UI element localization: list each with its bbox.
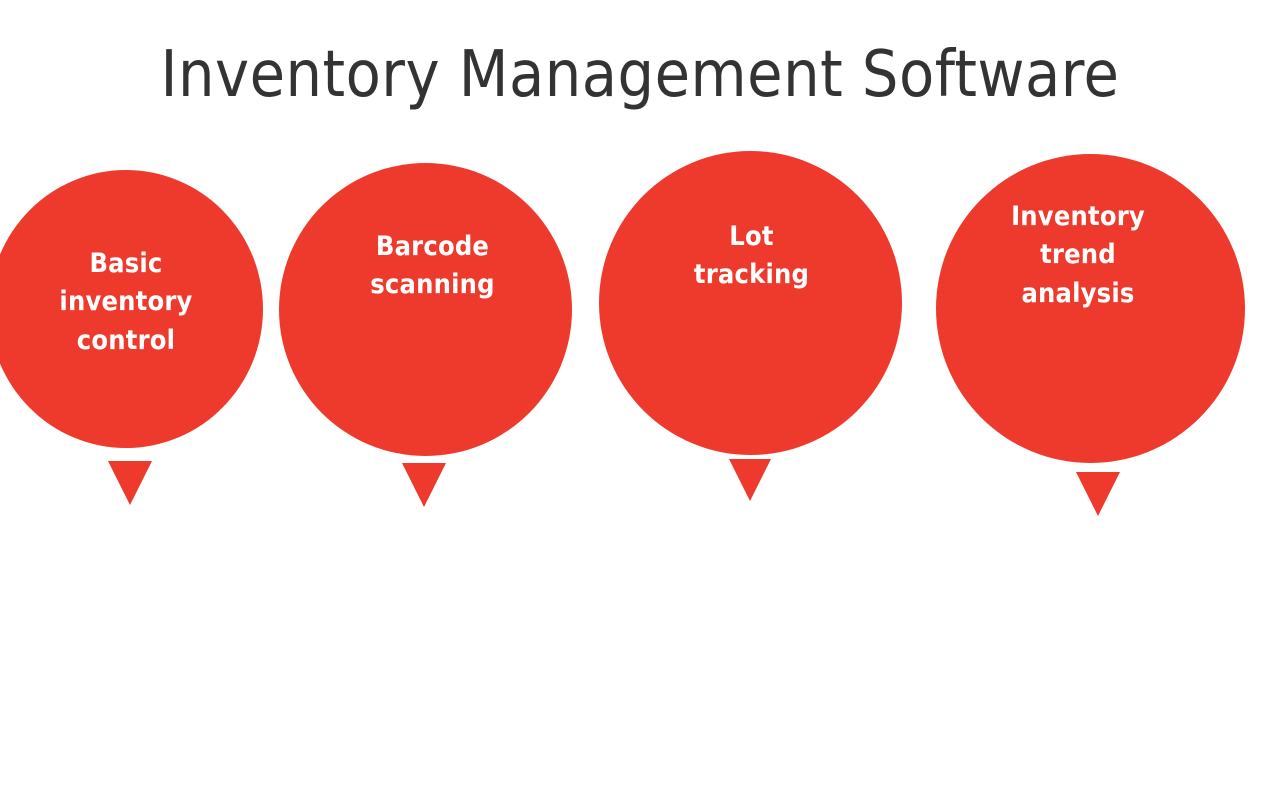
node-circle[interactable]: Basic inventory control: [0, 170, 263, 448]
node-label: Basic inventory control: [26, 245, 226, 360]
node-circle[interactable]: Lot tracking: [599, 151, 902, 455]
node-label: Lot tracking: [644, 218, 859, 295]
node-pointer-triangle-icon: [402, 463, 446, 507]
node-label: Barcode scanning: [325, 228, 540, 305]
diagram-canvas: Inventory Management Software Basic inve…: [0, 0, 1280, 788]
node-pointer-triangle-icon: [1076, 472, 1120, 516]
node-pointer-triangle-icon: [729, 459, 771, 501]
node-circle[interactable]: Barcode scanning: [279, 163, 572, 456]
node-circle[interactable]: Inventory trend analysis: [936, 154, 1245, 463]
node-label: Inventory trend analysis: [971, 198, 1186, 313]
node-pointer-triangle-icon: [108, 461, 152, 505]
page-title: Inventory Management Software: [0, 42, 1280, 109]
